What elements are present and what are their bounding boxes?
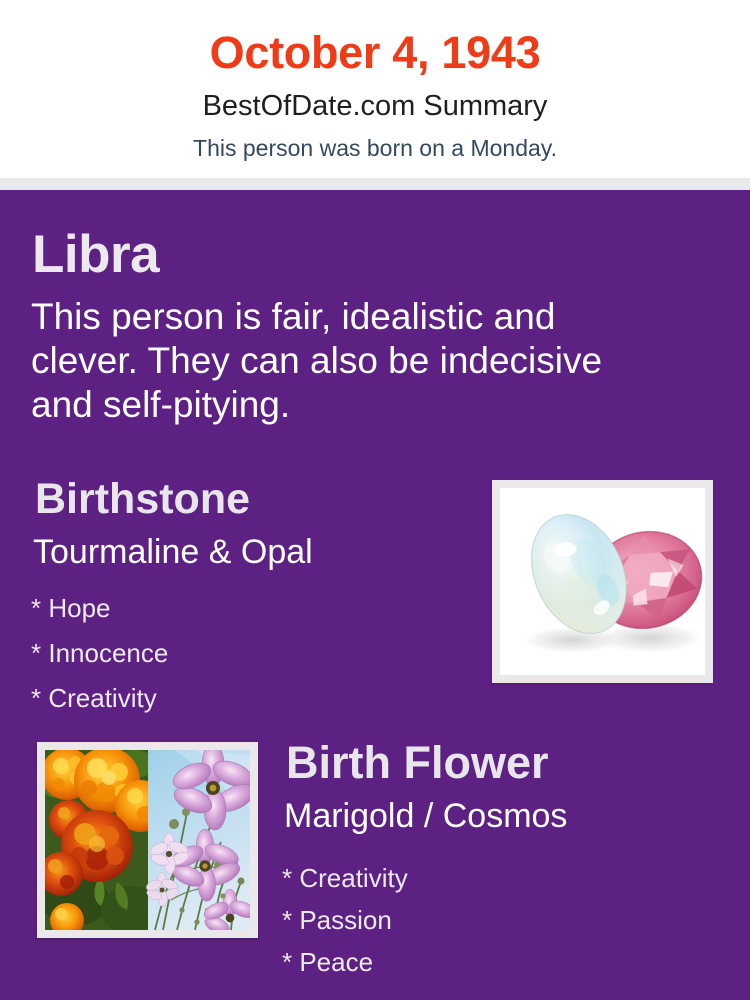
birth-flower-traits-list: * Creativity * Passion * Peace <box>282 857 408 983</box>
card-header: October 4, 1943 BestOfDate.com Summary T… <box>0 0 750 178</box>
list-item: * Creativity <box>282 857 408 899</box>
birth-weekday-note: This person was born on a Monday. <box>0 121 750 160</box>
site-subtitle: BestOfDate.com Summary <box>0 75 750 121</box>
list-item: * Peace <box>282 941 408 983</box>
summary-card: October 4, 1943 BestOfDate.com Summary T… <box>0 0 750 1000</box>
zodiac-description: This person is fair, idealistic and clev… <box>31 295 631 427</box>
list-item: * Innocence <box>31 631 168 676</box>
birthstone-heading: Birthstone <box>35 478 250 521</box>
birthstone-image <box>500 488 705 675</box>
list-item: * Passion <box>282 899 408 941</box>
birthstone-image-frame <box>492 480 713 683</box>
page-title: October 4, 1943 <box>0 0 750 75</box>
birth-flower-photo-graphic <box>45 750 250 930</box>
birth-flower-image-frame <box>37 742 258 938</box>
zodiac-sign-name: Libra <box>32 228 159 281</box>
birth-flower-names: Marigold / Cosmos <box>284 799 567 833</box>
birthstone-names: Tourmaline & Opal <box>33 535 313 569</box>
birth-flower-image <box>45 750 250 930</box>
birthstone-traits-list: * Hope * Innocence * Creativity <box>31 586 168 721</box>
birthstone-photo-graphic <box>500 488 705 675</box>
list-item: * Hope <box>31 586 168 631</box>
header-divider <box>0 178 750 190</box>
birth-flower-heading: Birth Flower <box>286 740 549 785</box>
list-item: * Creativity <box>31 676 168 721</box>
